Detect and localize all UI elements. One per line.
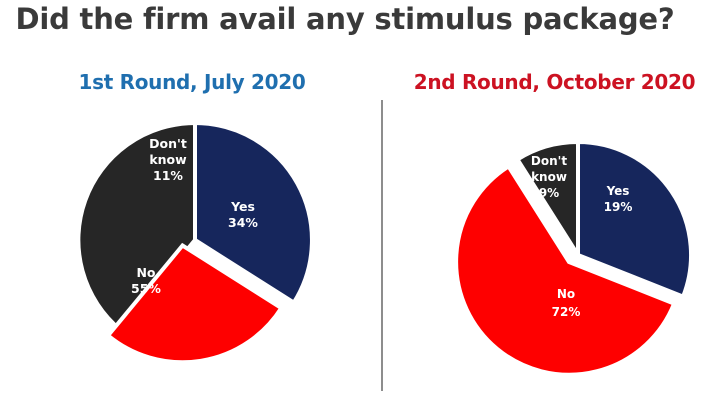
pie-chart-round2: Yes 19% Don't know 9% No 72% [450, 125, 710, 380]
pie-label-no-name-round1: No [136, 265, 155, 280]
pie-label-no-pct-round1: 55% [131, 281, 161, 296]
pie-label-dontknow-name2-round2: know [531, 170, 567, 184]
pie-label-no-pct-round2: 72% [552, 305, 581, 319]
pie-label-yes-pct-round2: 19% [604, 200, 633, 214]
pie-label-dontknow-pct-round1: 11% [153, 168, 183, 183]
pie-label-yes-name-round2: Yes [606, 184, 630, 198]
pie-label-no-name-round2: No [557, 287, 575, 301]
pie-label-dontknow-name2-round1: know [149, 152, 187, 167]
pie-label-yes-name-round1: Yes [230, 199, 255, 214]
pie-label-dontknow-name1-round1: Don't [149, 136, 187, 151]
panel-subtitle-round2: 2nd Round, October 2020 [384, 70, 725, 94]
page-title: Did the firm avail any stimulus package? [0, 2, 690, 36]
pie-label-dontknow-pct-round2: 9% [539, 186, 559, 200]
slide-canvas: Did the firm avail any stimulus package?… [0, 0, 725, 400]
panel-subtitle-round1: 1st Round, July 2020 [0, 70, 384, 94]
pie-chart-round1: Yes 34% Don't know 11% No 55% [60, 110, 340, 375]
panel-divider [381, 100, 383, 391]
pie-label-dontknow-name1-round2: Don't [531, 154, 567, 168]
pie-label-yes-pct-round1: 34% [228, 215, 258, 230]
